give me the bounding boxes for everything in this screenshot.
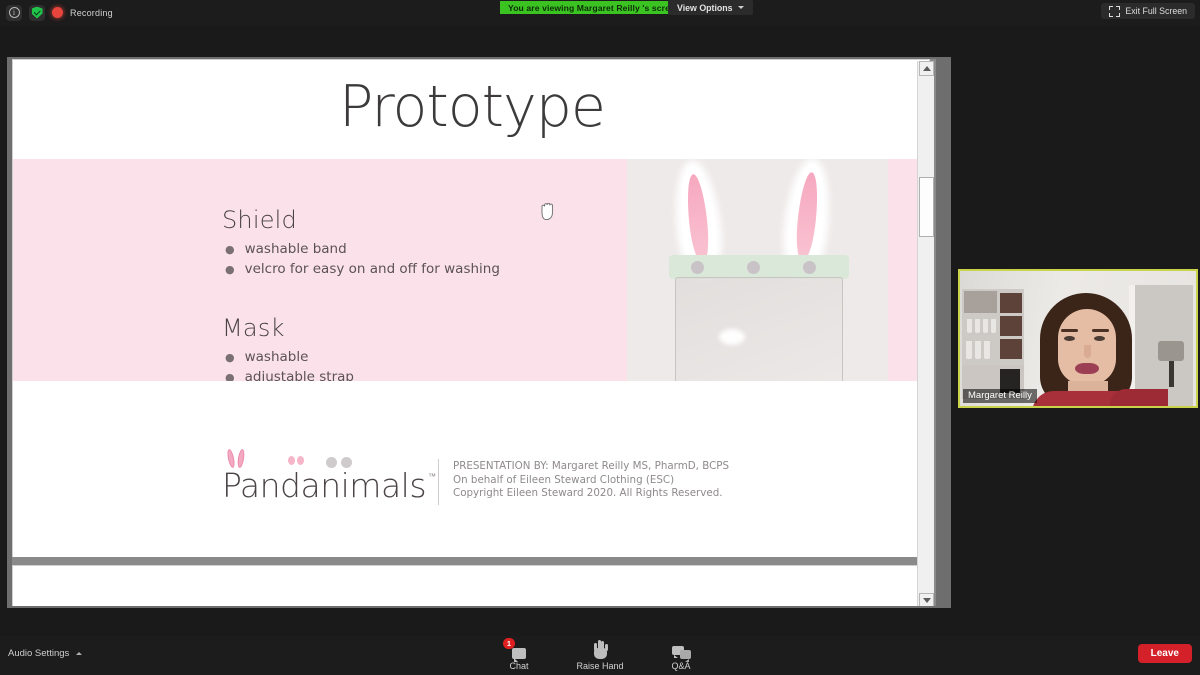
lips [1075, 363, 1099, 374]
eye-right [1094, 336, 1105, 341]
chat-bubble-icon: 1 [512, 639, 526, 659]
bullet-dot-icon: ● [225, 264, 235, 275]
bullet-text: washable band [245, 241, 347, 257]
zoom-meeting-window: i Recording You are viewing Margaret Rei… [0, 0, 1200, 675]
qa-button[interactable]: Q&A [655, 639, 707, 671]
logo-wordmark: Pandanimals [222, 466, 426, 505]
bullet-shield-1: ● washable band [225, 241, 347, 257]
raise-hand-label: Raise Hand [576, 661, 623, 671]
shield-headband [669, 255, 849, 279]
lamp [1158, 341, 1184, 361]
meeting-bottom-bar: Audio Settings 1 Chat [0, 636, 1200, 675]
panda-ears-icon [326, 457, 352, 469]
green-shield-check-icon [32, 7, 43, 19]
audio-settings-button[interactable]: Audio Settings [8, 648, 82, 659]
footer-divider [438, 459, 439, 505]
bullet-dot-icon: ● [225, 352, 235, 363]
participant-shirt-shadow [1110, 389, 1168, 408]
brow-left [1061, 329, 1078, 332]
participant-video-tile[interactable]: Margaret Reilly [958, 269, 1198, 408]
encryption-status-button[interactable] [29, 5, 45, 21]
bunny-ears-icon [227, 449, 249, 469]
top-bar-left-group: i Recording [6, 0, 113, 25]
scrollbar-thumb[interactable] [919, 177, 934, 237]
recording-dot-icon [52, 7, 63, 18]
shared-screen-region[interactable]: Prototype Shield ● washable band ● velcr… [7, 57, 951, 608]
raised-hand-icon [594, 639, 607, 659]
visor-glare [719, 329, 745, 345]
exit-full-screen-label: Exit Full Screen [1125, 6, 1187, 16]
participant-name-label: Margaret Reilly [963, 389, 1037, 404]
logo-text: Pandanimals [222, 466, 426, 505]
slide-footer: Pandanimals ™ PRESENTATION BY: Margaret … [13, 381, 931, 557]
slide-prototype: Prototype Shield ● washable band ● velcr… [12, 59, 930, 557]
meeting-top-bar: i Recording You are viewing Margaret Rei… [0, 0, 1200, 25]
section-heading-mask: Mask [222, 314, 285, 342]
raise-hand-button[interactable]: Raise Hand [574, 639, 626, 671]
lamp-base [1169, 361, 1174, 387]
bullet-mask-1: ● washable [225, 349, 308, 365]
presentation-credits: PRESENTATION BY: Margaret Reilly MS, Pha… [453, 460, 729, 501]
caret-up-icon [923, 66, 931, 71]
scroll-down-button[interactable] [919, 593, 934, 606]
credit-line-1: PRESENTATION BY: Margaret Reilly MS, Pha… [453, 460, 729, 474]
scroll-up-button[interactable] [919, 61, 934, 76]
view-options-label: View Options [677, 3, 733, 13]
shared-content-scrollbar[interactable] [917, 61, 934, 606]
view-options-dropdown[interactable]: View Options [668, 0, 753, 15]
bullet-text: washable [245, 349, 309, 365]
meeting-controls-group: 1 Chat Raise Hand [493, 639, 707, 671]
chevron-down-icon [738, 6, 744, 9]
section-heading-shield: Shield [222, 206, 297, 234]
pandanimals-logo: Pandanimals ™ [222, 466, 436, 505]
bullet-dot-icon: ● [225, 244, 235, 255]
shelving-unit [962, 289, 1024, 399]
video-feed [960, 271, 1196, 406]
chat-label: Chat [509, 661, 528, 671]
slide-next-partial [12, 565, 930, 606]
eye-left [1064, 336, 1075, 341]
brow-right [1092, 329, 1109, 332]
meeting-info-button[interactable]: i [6, 5, 22, 21]
grab-hand-cursor-icon [538, 198, 558, 222]
nose [1084, 345, 1091, 358]
shared-document-viewport[interactable]: Prototype Shield ● washable band ● velcr… [12, 59, 936, 606]
credit-line-2: On behalf of Eileen Steward Clothing (ES… [453, 474, 729, 488]
screen-share-banner: You are viewing Margaret Reilly 's scree… [500, 1, 688, 14]
bullet-shield-2: ● velcro for easy on and off for washing [225, 261, 500, 277]
bullet-text: velcro for easy on and off for washing [245, 261, 500, 277]
leave-meeting-button[interactable]: Leave [1138, 644, 1192, 663]
credit-line-3: Copyright Eileen Steward 2020. All Right… [453, 487, 729, 501]
trademark-symbol: ™ [428, 472, 436, 481]
caret-up-icon [76, 652, 82, 655]
recording-label: Recording [70, 8, 113, 18]
chat-button[interactable]: 1 Chat [493, 639, 545, 671]
caret-down-icon [923, 598, 931, 603]
chat-unread-badge: 1 [503, 638, 515, 649]
info-circle-icon: i [9, 7, 20, 18]
audio-settings-label: Audio Settings [8, 648, 69, 659]
bow-icon [288, 456, 304, 466]
slide-title: Prototype [13, 74, 931, 140]
exit-full-screen-button[interactable]: Exit Full Screen [1101, 3, 1195, 19]
exit-fullscreen-icon [1109, 6, 1120, 17]
qa-label: Q&A [671, 661, 690, 671]
qa-bubbles-icon [672, 639, 691, 659]
